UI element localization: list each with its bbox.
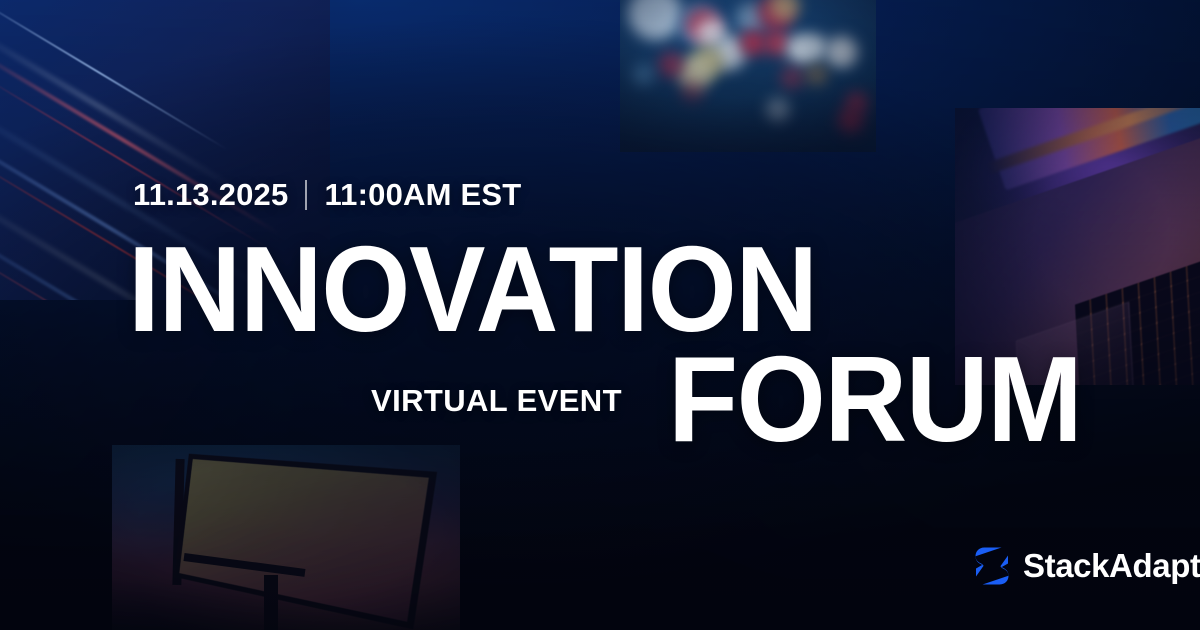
datetime-divider: [305, 180, 307, 210]
event-format-label: VIRTUAL EVENT: [371, 383, 622, 419]
event-time: 11:00AM EST: [324, 177, 521, 213]
event-datetime: 11.13.2025 11:00AM EST: [133, 177, 521, 213]
event-promo-banner: 11.13.2025 11:00AM EST INNOVATION VIRTUA…: [0, 0, 1200, 630]
stackadapt-s-mark-icon: [974, 546, 1010, 586]
stackadapt-logo: StackAdapt: [974, 546, 1200, 586]
headline-line-2: FORUM: [668, 338, 1081, 460]
event-date: 11.13.2025: [133, 177, 288, 213]
stackadapt-wordmark: StackAdapt: [1023, 547, 1200, 585]
banner-content: 11.13.2025 11:00AM EST INNOVATION VIRTUA…: [0, 0, 1200, 630]
